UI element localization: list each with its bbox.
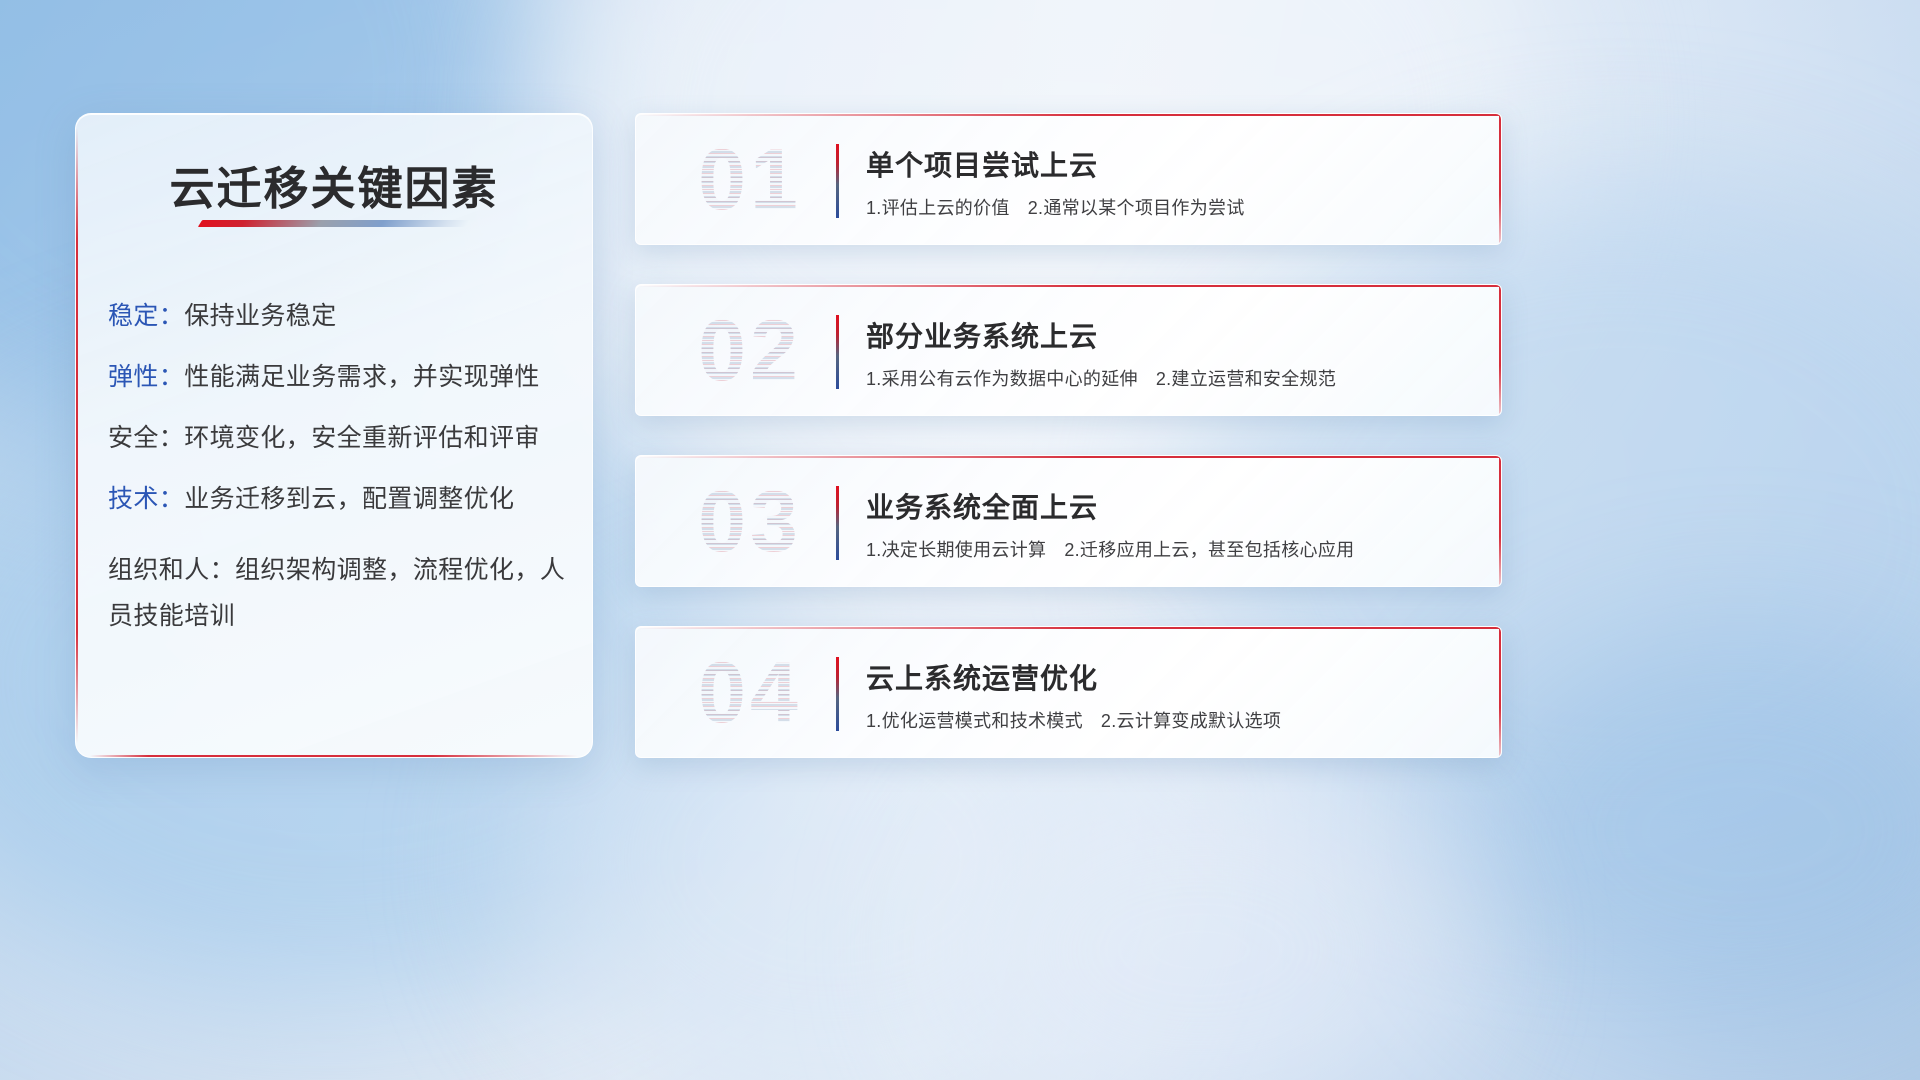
title-underline-accent (198, 220, 470, 227)
stage-subtitle: 1.采用公有云作为数据中心的延伸2.建立运营和安全规范 (866, 365, 1336, 391)
stage-card-04[interactable]: 04 04 云上系统运营优化 1.优化运营模式和技术模式2.云计算变成默认选项 (635, 626, 1502, 758)
stage-card-02[interactable]: 02 02 部分业务系统上云 1.采用公有云作为数据中心的延伸2.建立运营和安全… (635, 284, 1502, 416)
list-item: 组织和人：组织架构调整，流程优化，人员技能培训 (108, 548, 568, 639)
list-item: 稳定：保持业务稳定 (108, 304, 568, 329)
stage-point-2: 2.云计算变成默认选项 (1101, 711, 1281, 731)
stage-number: 01 (670, 126, 830, 234)
stage-card-01[interactable]: 01 01 单个项目尝试上云 1.评估上云的价值2.通常以某个项目作为尝试 (635, 113, 1502, 245)
factor-label: 稳定： (108, 302, 184, 330)
stage-title: 业务系统全面上云 (866, 486, 1098, 526)
stage-point-1: 1.决定长期使用云计算 (866, 540, 1046, 560)
stage-subtitle: 1.优化运营模式和技术模式2.云计算变成默认选项 (866, 707, 1281, 733)
page-title: 云迁移关键因素 (76, 152, 592, 217)
stage-title: 部分业务系统上云 (866, 315, 1098, 355)
stage-point-2: 2.迁移应用上云，甚至包括核心应用 (1064, 540, 1354, 560)
factor-label: 安全： (108, 424, 184, 452)
stage-point-2: 2.通常以某个项目作为尝试 (1028, 198, 1245, 218)
stage-point-1: 1.优化运营模式和技术模式 (866, 711, 1083, 731)
stage-title: 单个项目尝试上云 (866, 144, 1098, 184)
stage-title: 云上系统运营优化 (866, 657, 1098, 697)
stage-divider-accent (836, 657, 839, 731)
factor-value: 环境变化，安全重新评估和评审 (184, 424, 540, 452)
factor-label: 组织和人： (108, 556, 235, 584)
factor-label: 弹性： (108, 363, 184, 391)
stage-point-1: 1.采用公有云作为数据中心的延伸 (866, 369, 1138, 389)
stage-divider-accent (836, 144, 839, 218)
stage-number: 03 (670, 468, 830, 576)
factor-label: 技术： (108, 485, 184, 513)
stage-subtitle: 1.评估上云的价值2.通常以某个项目作为尝试 (866, 194, 1245, 220)
stage-point-1: 1.评估上云的价值 (866, 198, 1010, 218)
factor-value: 性能满足业务需求，并实现弹性 (184, 363, 540, 391)
key-factors-list: 稳定：保持业务稳定 弹性：性能满足业务需求，并实现弹性 安全：环境变化，安全重新… (108, 304, 568, 639)
list-item: 弹性：性能满足业务需求，并实现弹性 (108, 365, 568, 390)
key-factors-panel: 云迁移关键因素 稳定：保持业务稳定 弹性：性能满足业务需求，并实现弹性 安全：环… (75, 113, 593, 758)
list-item: 技术：业务迁移到云，配置调整优化 (108, 487, 568, 512)
stage-divider-accent (836, 315, 839, 389)
list-item: 安全：环境变化，安全重新评估和评审 (108, 426, 568, 451)
stage-point-2: 2.建立运营和安全规范 (1156, 369, 1336, 389)
factor-value: 业务迁移到云，配置调整优化 (184, 485, 514, 513)
stage-number: 04 (670, 639, 830, 747)
stage-subtitle: 1.决定长期使用云计算2.迁移应用上云，甚至包括核心应用 (866, 536, 1354, 562)
factor-value: 保持业务稳定 (184, 302, 336, 330)
stage-number: 02 (670, 297, 830, 405)
stage-card-03[interactable]: 03 03 业务系统全面上云 1.决定长期使用云计算2.迁移应用上云，甚至包括核… (635, 455, 1502, 587)
stage-divider-accent (836, 486, 839, 560)
